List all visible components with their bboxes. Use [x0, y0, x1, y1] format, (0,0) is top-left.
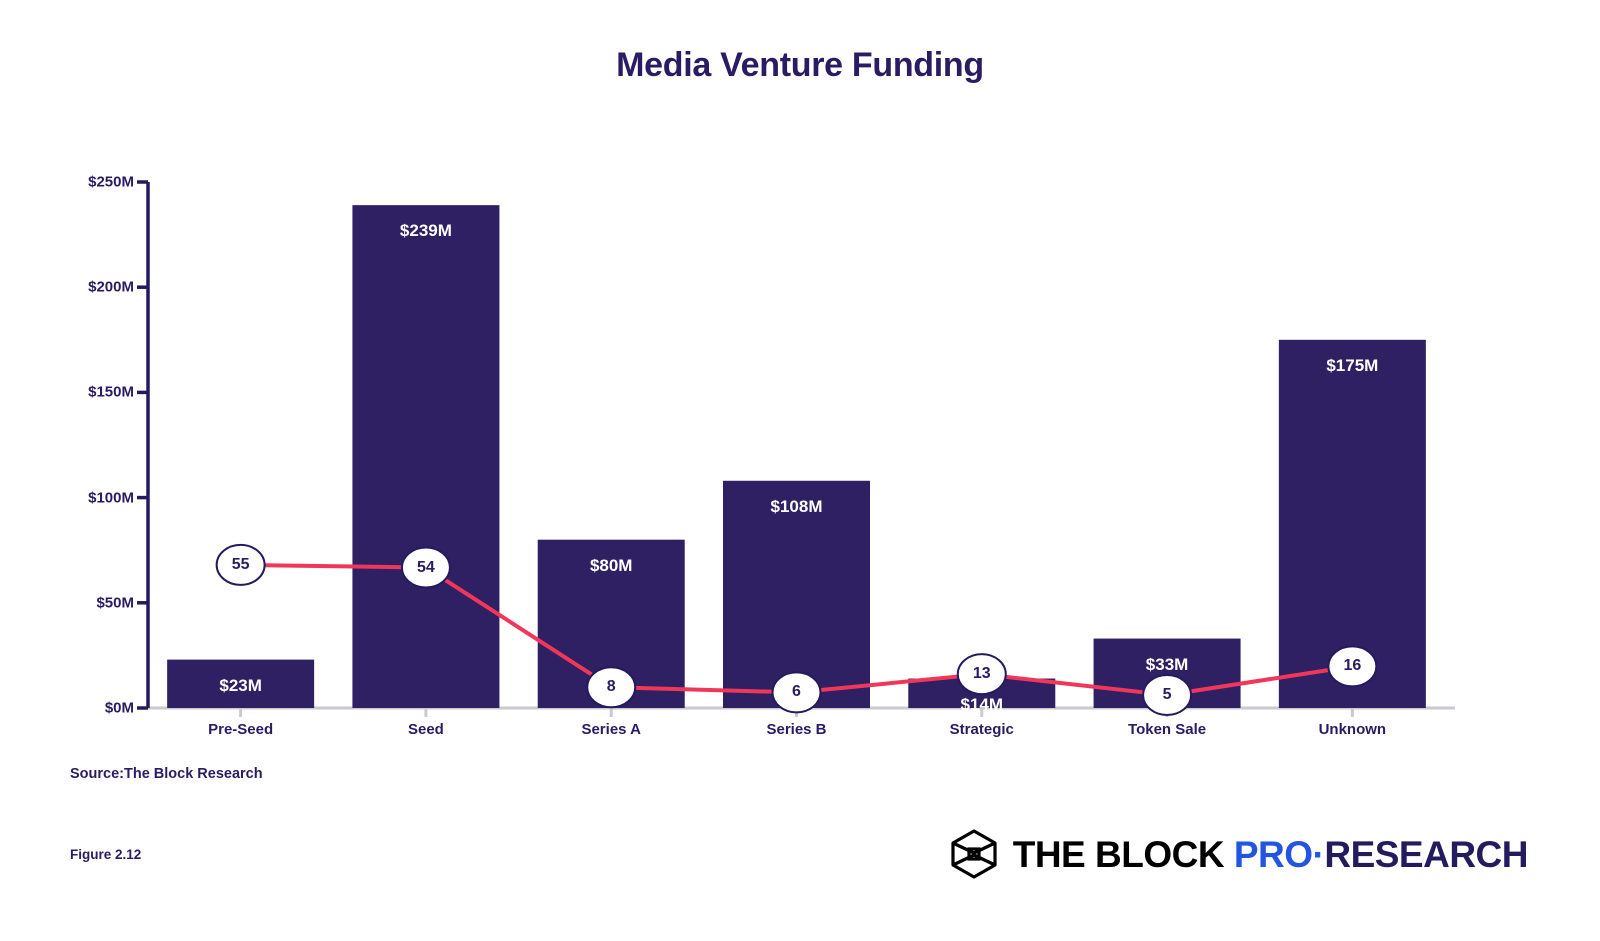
x-axis-tick-label: Token Sale	[1128, 721, 1206, 738]
figure-number: Figure 2.12	[70, 847, 141, 862]
logo-research-text: RESEARCH	[1324, 834, 1528, 875]
line-marker-label: 6	[792, 683, 801, 701]
line-marker-label: 54	[417, 559, 435, 577]
logo-pro-text: PRO	[1234, 834, 1313, 875]
bar-value-label: $175M	[1326, 356, 1378, 376]
bar-value-label: $14M	[961, 695, 1004, 715]
line-marker-label: 8	[607, 678, 616, 696]
logo-wordmark: THE BLOCK PRO·RESEARCH	[1013, 836, 1528, 873]
bar-value-label: $239M	[400, 221, 452, 241]
logo-the-block-text: THE BLOCK	[1013, 834, 1224, 875]
x-axis-tick-label: Seed	[408, 721, 444, 738]
x-axis-tick-labels: $23MPre-Seed$239MSeed$80MSeries A$108MSe…	[0, 0, 1600, 760]
logo-separator: ·	[1313, 834, 1325, 875]
line-marker-label: 5	[1163, 686, 1172, 704]
x-axis-tick-label: Series B	[766, 721, 826, 738]
bar-value-label: $80M	[590, 556, 633, 576]
x-axis-tick-label: Series A	[581, 721, 640, 738]
bar-value-label: $33M	[1146, 655, 1189, 675]
line-marker-label: 55	[232, 556, 250, 574]
the-block-pro-research-logo: THE BLOCK PRO·RESEARCH	[949, 828, 1528, 880]
line-marker-label: 16	[1343, 657, 1361, 675]
chart-plot-area: $0M$50M$100M$150M$200M$250M $23MPre-Seed…	[0, 0, 1600, 760]
hexagon-cube-icon	[949, 828, 999, 880]
line-marker-label: 13	[973, 665, 991, 683]
x-axis-tick-label: Strategic	[950, 721, 1014, 738]
bar-value-label: $108M	[771, 497, 823, 517]
x-axis-tick-label: Unknown	[1319, 721, 1387, 738]
x-axis-tick-label: Pre-Seed	[208, 721, 273, 738]
source-note: Source:The Block Research	[70, 766, 263, 782]
bar-value-label: $23M	[219, 676, 262, 696]
